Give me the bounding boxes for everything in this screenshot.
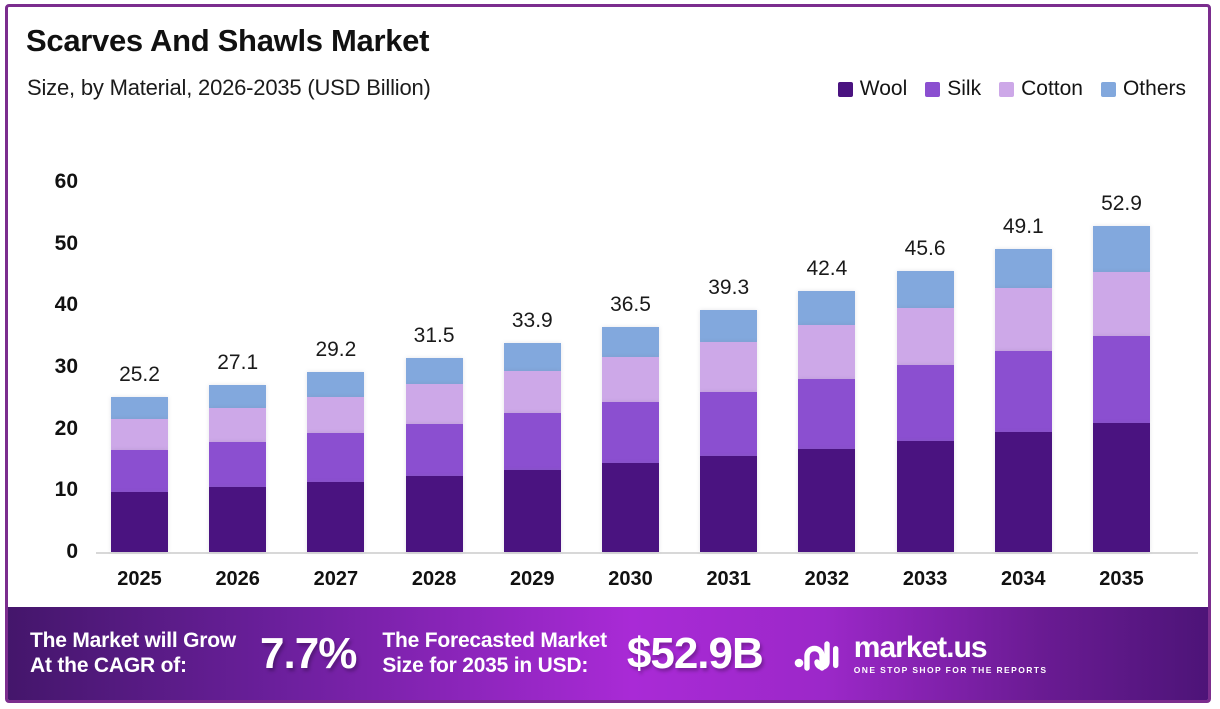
bar-group[interactable]: [700, 310, 757, 552]
bar-segment-others[interactable]: [209, 385, 266, 408]
bar-segment-silk[interactable]: [995, 351, 1052, 432]
bar-value-label: 52.9: [1101, 192, 1142, 216]
x-axis-label: 2030: [602, 568, 659, 591]
bar-segment-others[interactable]: [111, 397, 168, 419]
y-axis-tick: 30: [8, 355, 78, 379]
bar-segment-cotton[interactable]: [897, 308, 954, 365]
bar-segment-silk[interactable]: [209, 442, 266, 487]
bar-group[interactable]: [602, 327, 659, 552]
forecast-value: $52.9B: [627, 629, 763, 679]
market-us-logo[interactable]: market.us ONE STOP SHOP FOR THE REPORTS: [793, 633, 1048, 675]
chart-header: Scarves And Shawls Market Size, by Mater…: [8, 7, 1208, 119]
chart-card: Scarves And Shawls Market Size, by Mater…: [5, 4, 1211, 703]
legend-item-silk[interactable]: Silk: [925, 77, 981, 101]
x-axis-label: 2035: [1093, 568, 1150, 591]
bar-group[interactable]: [897, 271, 954, 552]
bar-segment-others[interactable]: [798, 291, 855, 326]
x-axis-label: 2032: [798, 568, 855, 591]
bar-segment-wool[interactable]: [995, 432, 1052, 552]
cagr-label-line2: At the CAGR of:: [30, 654, 236, 679]
bar-segment-silk[interactable]: [700, 392, 757, 457]
logo-text: market.us ONE STOP SHOP FOR THE REPORTS: [854, 633, 1048, 675]
x-axis-label: 2026: [209, 568, 266, 591]
x-axis-label: 2033: [897, 568, 954, 591]
cagr-label-line1: The Market will Grow: [30, 629, 236, 654]
cagr-label: The Market will Grow At the CAGR of:: [30, 629, 236, 679]
legend-item-wool[interactable]: Wool: [838, 77, 907, 101]
y-axis-tick: 0: [8, 540, 78, 564]
plot-area: 25.2202527.1202629.2202731.5202833.92029…: [8, 119, 1208, 609]
bar-value-label: 31.5: [414, 324, 455, 348]
bar-segment-cotton[interactable]: [111, 419, 168, 450]
bar-segment-cotton[interactable]: [504, 371, 561, 414]
x-axis-label: 2028: [406, 568, 463, 591]
bar-group[interactable]: [995, 249, 1052, 552]
bar-segment-wool[interactable]: [406, 476, 463, 552]
forecast-label: The Forecasted Market Size for 2035 in U…: [382, 629, 607, 679]
bar-segment-silk[interactable]: [111, 450, 168, 492]
y-axis-tick: 20: [8, 417, 78, 441]
bars-container: 25.2202527.1202629.2202731.5202833.92029…: [103, 119, 1202, 609]
bar-segment-wool[interactable]: [897, 441, 954, 552]
legend-label: Silk: [947, 77, 981, 101]
bar-segment-silk[interactable]: [897, 365, 954, 441]
bar-segment-silk[interactable]: [406, 424, 463, 476]
bar-value-label: 29.2: [315, 338, 356, 362]
chart-subtitle: Size, by Material, 2026-2035 (USD Billio…: [27, 75, 431, 101]
x-axis-label: 2029: [504, 568, 561, 591]
bar-group[interactable]: [1093, 226, 1150, 552]
logo-tagline: ONE STOP SHOP FOR THE REPORTS: [854, 666, 1048, 675]
bar-segment-others[interactable]: [504, 343, 561, 371]
logo-name: market.us: [854, 633, 1048, 663]
forecast-label-line1: The Forecasted Market: [382, 629, 607, 654]
bar-segment-silk[interactable]: [1093, 336, 1150, 422]
bar-segment-others[interactable]: [602, 327, 659, 357]
bar-segment-wool[interactable]: [307, 482, 364, 552]
bar-segment-silk[interactable]: [798, 379, 855, 449]
legend-item-others[interactable]: Others: [1101, 77, 1186, 101]
bar-segment-silk[interactable]: [504, 413, 561, 470]
bar-value-label: 45.6: [905, 237, 946, 261]
chart-legend: WoolSilkCottonOthers: [838, 77, 1186, 101]
bar-segment-cotton[interactable]: [602, 357, 659, 403]
market-us-mark-icon: [793, 634, 845, 674]
bar-segment-others[interactable]: [307, 372, 364, 397]
bar-segment-wool[interactable]: [111, 492, 168, 552]
bar-group[interactable]: [209, 385, 266, 552]
bar-value-label: 36.5: [610, 293, 651, 317]
bar-value-label: 27.1: [217, 351, 258, 375]
y-axis-tick: 40: [8, 293, 78, 317]
page-title: Scarves And Shawls Market: [26, 23, 429, 59]
x-axis-label: 2034: [995, 568, 1052, 591]
bar-segment-silk[interactable]: [307, 433, 364, 482]
bar-segment-wool[interactable]: [700, 456, 757, 552]
bar-segment-wool[interactable]: [209, 487, 266, 552]
bar-segment-others[interactable]: [406, 358, 463, 385]
bar-segment-cotton[interactable]: [700, 342, 757, 392]
legend-swatch-icon: [1101, 82, 1116, 97]
bar-segment-others[interactable]: [700, 310, 757, 342]
bar-segment-wool[interactable]: [504, 470, 561, 552]
x-axis-label: 2027: [307, 568, 364, 591]
bar-segment-others[interactable]: [897, 271, 954, 308]
bar-group[interactable]: [307, 372, 364, 552]
bar-group[interactable]: [798, 291, 855, 552]
y-axis-tick: 10: [8, 478, 78, 502]
bar-segment-silk[interactable]: [602, 402, 659, 463]
bar-value-label: 42.4: [806, 257, 847, 281]
x-axis-label: 2031: [700, 568, 757, 591]
bar-segment-wool[interactable]: [602, 463, 659, 552]
bar-segment-cotton[interactable]: [798, 325, 855, 379]
legend-item-cotton[interactable]: Cotton: [999, 77, 1083, 101]
bar-segment-cotton[interactable]: [1093, 272, 1150, 336]
legend-swatch-icon: [925, 82, 940, 97]
x-axis-label: 2025: [111, 568, 168, 591]
bar-segment-cotton[interactable]: [307, 397, 364, 433]
legend-swatch-icon: [838, 82, 853, 97]
bar-segment-wool[interactable]: [1093, 423, 1150, 553]
forecast-label-line2: Size for 2035 in USD:: [382, 654, 607, 679]
legend-swatch-icon: [999, 82, 1014, 97]
bar-group[interactable]: [504, 343, 561, 552]
bar-segment-others[interactable]: [995, 249, 1052, 288]
bar-segment-cotton[interactable]: [406, 384, 463, 423]
cagr-value: 7.7%: [260, 629, 356, 679]
bar-segment-wool[interactable]: [798, 449, 855, 552]
bar-segment-cotton[interactable]: [209, 408, 266, 442]
y-axis-tick: 60: [8, 170, 78, 194]
bar-value-label: 33.9: [512, 309, 553, 333]
bar-group[interactable]: [406, 358, 463, 552]
y-axis-tick: 50: [8, 232, 78, 256]
bar-segment-cotton[interactable]: [995, 288, 1052, 351]
bar-value-label: 49.1: [1003, 215, 1044, 239]
bar-group[interactable]: [111, 397, 168, 552]
bar-segment-others[interactable]: [1093, 226, 1150, 272]
legend-label: Cotton: [1021, 77, 1083, 101]
legend-label: Wool: [860, 77, 907, 101]
bar-value-label: 25.2: [119, 363, 160, 387]
summary-footer: The Market will Grow At the CAGR of: 7.7…: [8, 607, 1208, 700]
legend-label: Others: [1123, 77, 1186, 101]
bar-value-label: 39.3: [708, 276, 749, 300]
